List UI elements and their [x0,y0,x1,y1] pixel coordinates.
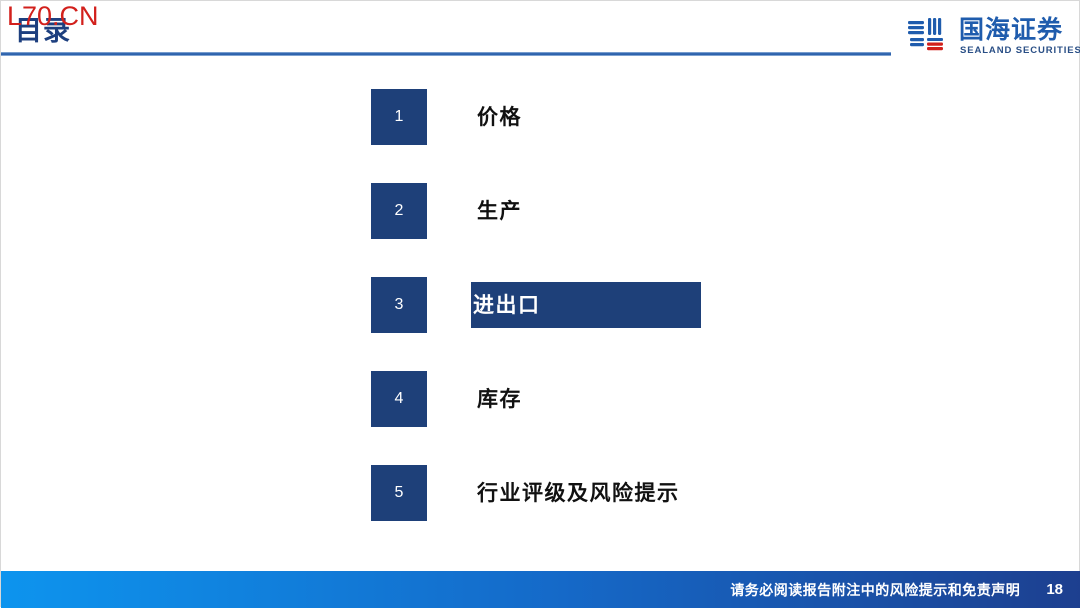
toc-item-label: 库存 [477,389,522,410]
watermark-text: L70.CN [7,3,99,30]
logo-name-en: SEALAND SECURITIES [960,46,1080,56]
toc-item-label: 价格 [477,107,522,128]
logo-name-cn: 国海证券 [959,17,1063,45]
toc-number-badge: 4 [371,371,427,427]
slide-footer: 请务必阅读报告附注中的风险提示和免责声明 18 [1,571,1080,608]
toc-item-5[interactable]: 5 行业评级及风险提示 [371,465,686,521]
toc-label-wrap: 生产 [471,188,528,234]
toc-number-badge: 5 [371,465,427,521]
toc-item-label: 进出口 [473,295,541,316]
toc-label-wrap: 价格 [471,94,528,140]
slide-canvas: 目录 L70.CN [0,0,1080,607]
toc-number-badge: 1 [371,89,427,145]
toc-label-highlight: 进出口 [471,282,701,328]
toc-item-3[interactable]: 3 进出口 [371,277,701,333]
toc-label-wrap: 库存 [471,376,528,422]
toc-item-1[interactable]: 1 价格 [371,89,528,145]
toc-item-label: 行业评级及风险提示 [477,483,680,504]
company-logo: 国海证券 SEALAND SECURITIES [907,15,1067,61]
disclaimer-text: 请务必阅读报告附注中的风险提示和免责声明 [730,583,1020,597]
toc-number-badge: 2 [371,183,427,239]
toc-label-wrap: 行业评级及风险提示 [471,470,686,516]
sealand-emblem-icon [907,16,951,56]
toc-list: 1 价格 2 生产 3 进出口 4 库存 5 行业评级及风 [1,71,1080,541]
toc-item-4[interactable]: 4 库存 [371,371,528,427]
toc-number-badge: 3 [371,277,427,333]
header-divider [1,52,891,56]
page-number: 18 [1046,582,1063,597]
toc-item-2[interactable]: 2 生产 [371,183,528,239]
toc-item-label: 生产 [477,201,522,222]
